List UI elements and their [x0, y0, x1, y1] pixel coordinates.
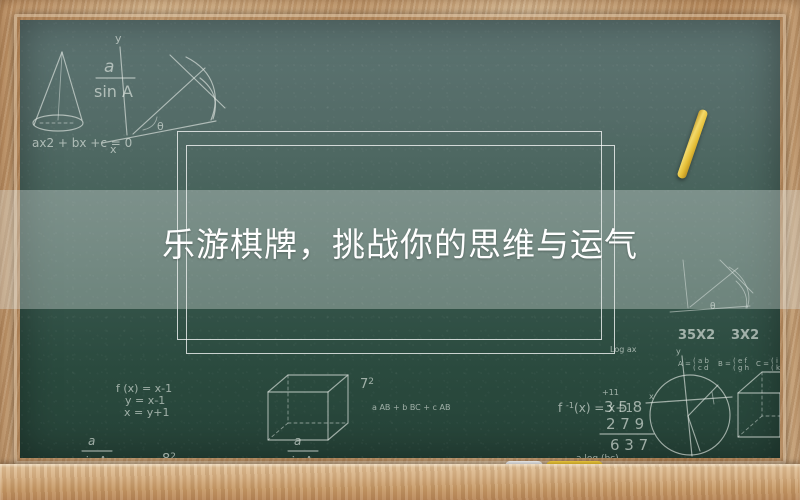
matrix-expressions: A = ( a b ( c d B = ( e f ( g h C = ( i …	[678, 357, 780, 372]
log-ax: Log ax	[610, 345, 637, 354]
svg-text:+11: +11	[602, 388, 619, 397]
svg-text:2 7 9: 2 7 9	[606, 415, 644, 433]
svg-text:θ: θ	[710, 302, 716, 312]
svg-text:C =: C =	[756, 360, 769, 368]
chalk-ledge	[0, 464, 800, 500]
cube-3d-right	[738, 372, 780, 437]
svg-text:x: x	[649, 392, 654, 401]
angle-diagram-right: θ	[670, 260, 753, 312]
svg-text:6 3 7: 6 3 7	[610, 436, 648, 454]
svg-text:( c d: ( c d	[693, 364, 708, 372]
svg-text:3 5 8: 3 5 8	[604, 398, 642, 416]
mult-35x2: 35X2	[678, 328, 715, 343]
svg-text:( g h: ( g h	[733, 364, 749, 372]
page-title: 乐游棋牌，挑战你的思维与运气	[0, 225, 800, 265]
svg-text:y: y	[676, 347, 681, 356]
svg-text:A =: A =	[678, 360, 691, 368]
chalkboard-banner: a sin A ax2 + bx +c = 0 y x	[0, 0, 800, 500]
mult-3x2: 3X2	[731, 328, 759, 343]
svg-text:B =: B =	[718, 360, 731, 368]
addition-problem: +11 3 5 8 2 7 9 6 3 7	[600, 388, 654, 454]
svg-text:( k l: ( k l	[771, 364, 780, 372]
